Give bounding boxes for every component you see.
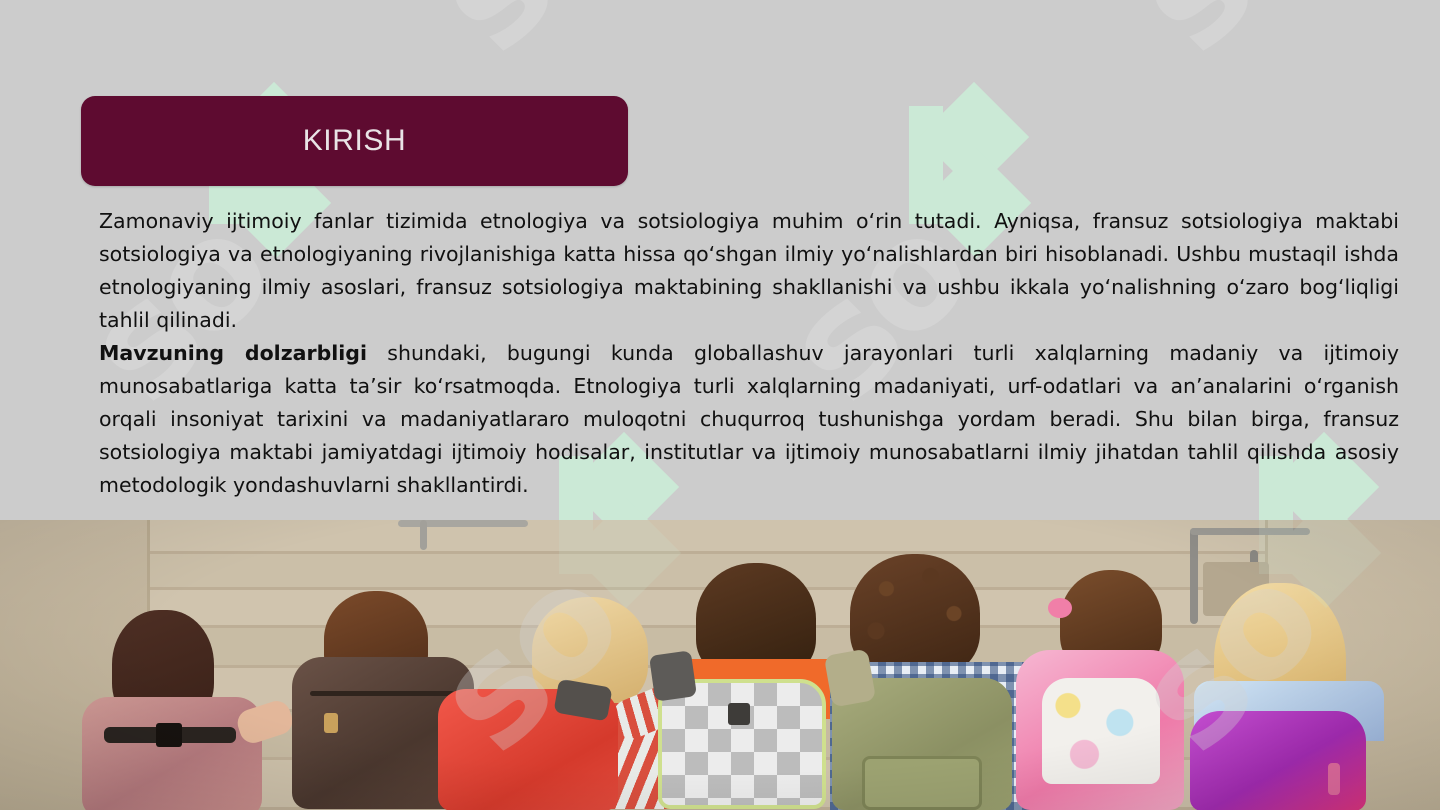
child-4-backpack	[658, 679, 826, 809]
child-5-backpack-strap	[824, 649, 876, 708]
child-7-backpack-pull	[1328, 763, 1340, 795]
photo-handrail-5	[398, 520, 528, 527]
watermark-text-2: so	[410, 0, 644, 76]
slide-body-text: Zamonaviy ijtimoiy fanlar tizimida etnol…	[99, 205, 1399, 502]
watermark-text-1: so	[1110, 0, 1344, 76]
child-1-backpack-buckle	[156, 723, 182, 747]
child-5-head	[850, 554, 980, 678]
slide-photo-schoolchildren: so so	[0, 520, 1440, 810]
photo-child-1	[60, 605, 290, 810]
paragraph-1: Zamonaviy ijtimoiy fanlar tizimida etnol…	[99, 205, 1399, 337]
photo-child-7	[1180, 595, 1400, 810]
paragraph-2: Mavzuning dolzarbligi shundaki, bugungi …	[99, 337, 1399, 502]
child-7-backpack	[1190, 711, 1366, 810]
page-title: KIRISH	[303, 124, 407, 158]
child-1-backpack	[82, 697, 262, 810]
child-6-hair-tie	[1048, 598, 1072, 618]
child-6-backpack-print	[1042, 678, 1160, 784]
presentation-slide: so so so so so so so so KIRISH Zamon	[0, 0, 1440, 810]
child-4-backpack-strap	[649, 650, 697, 701]
child-2-backpack-zip	[310, 691, 454, 696]
child-2-backpack-pull	[324, 713, 338, 733]
paragraph-2-lead: Mavzuning dolzarbligi	[99, 341, 367, 365]
photo-handrail-2	[1190, 528, 1310, 535]
slide-title-plate: KIRISH	[81, 96, 628, 186]
child-5-backpack-pocket	[862, 756, 982, 810]
child-4-backpack-pocket	[728, 703, 750, 725]
photo-handrail-6	[420, 520, 427, 550]
